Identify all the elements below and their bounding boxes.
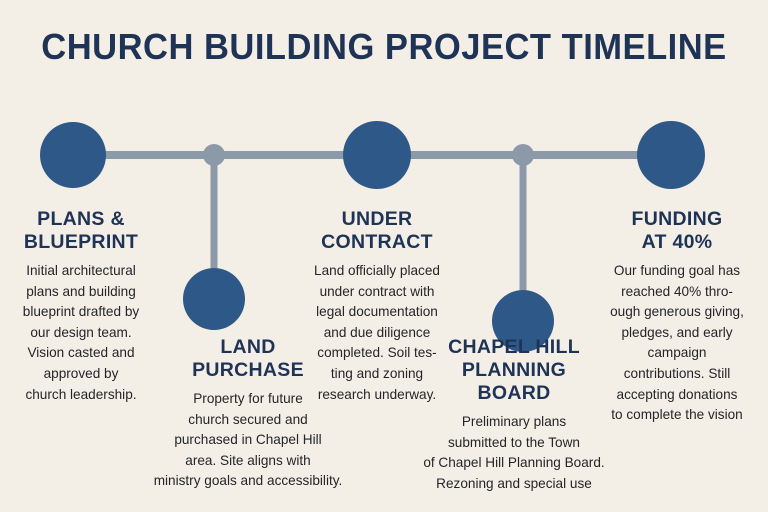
timeline-node-plans-blueprint[interactable] bbox=[40, 122, 106, 188]
column-heading: FUNDING AT 40% bbox=[586, 208, 768, 254]
timeline-junction-dot-planning-board bbox=[512, 144, 534, 166]
timeline-junction-dot-land-purchase bbox=[203, 144, 225, 166]
column-body: Initial architectural plans and building… bbox=[0, 261, 162, 405]
timeline-node-funding-at-40[interactable] bbox=[637, 121, 705, 189]
infographic-canvas: CHURCH BUILDING PROJECT TIMELINE PLANS &… bbox=[0, 0, 768, 512]
page-title: CHURCH BUILDING PROJECT TIMELINE bbox=[15, 26, 752, 68]
timeline-node-under-contract[interactable] bbox=[343, 121, 411, 189]
timeline-column-plans-blueprint: PLANS & BLUEPRINT Initial architectural … bbox=[0, 208, 162, 405]
column-heading: PLANS & BLUEPRINT bbox=[0, 208, 162, 254]
timeline-node-land-purchase[interactable] bbox=[183, 268, 245, 330]
column-body: Our funding goal has reached 40% thro- o… bbox=[586, 261, 768, 426]
timeline-column-funding-at-40: FUNDING AT 40% Our funding goal has reac… bbox=[586, 208, 768, 426]
column-heading: UNDER CONTRACT bbox=[282, 208, 472, 254]
